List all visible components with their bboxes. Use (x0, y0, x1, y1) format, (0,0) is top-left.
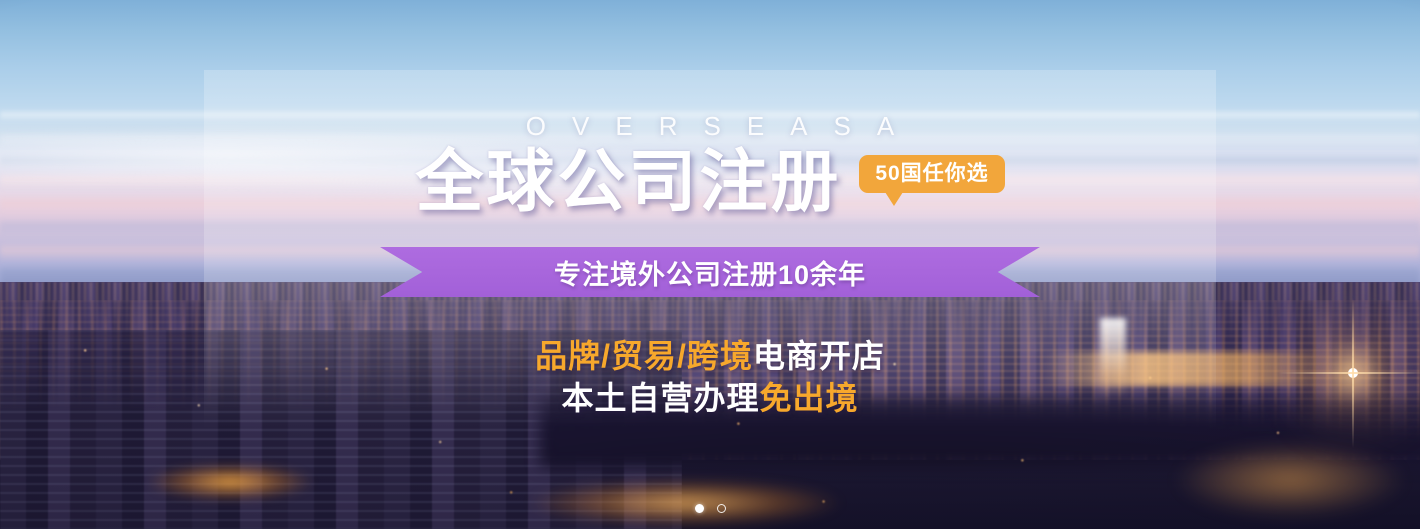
headline-row: 全球公司注册 50国任你选 (0, 148, 1420, 216)
country-count-badge[interactable]: 50国任你选 (859, 155, 1004, 193)
subheading-line-1: 品牌/贸易/跨境电商开店 (0, 336, 1420, 376)
carousel-dot-1[interactable] (695, 504, 704, 513)
ribbon-label: 专注境外公司注册10余年 (380, 247, 1040, 297)
carousel-dots[interactable] (0, 504, 1420, 513)
carousel-dot-2[interactable] (717, 504, 726, 513)
subheading-1-rest: 电商开店 (753, 338, 885, 374)
tagline-ribbon: 专注境外公司注册10余年 (380, 247, 1040, 297)
eyebrow-text: OVERSEASA (0, 113, 1420, 139)
subheading-line-2: 本土自营办理免出境 (0, 378, 1420, 418)
badge-pointer-icon (885, 192, 903, 206)
page-title: 全球公司注册 (415, 148, 841, 216)
subheading-1-highlight: 品牌/贸易/跨境 (535, 338, 753, 374)
hero-banner: OVERSEASA 全球公司注册 50国任你选 专注境外公司注册10余年 品牌/… (0, 0, 1420, 529)
badge-label: 50国任你选 (859, 155, 1004, 193)
subheading-2-highlight: 免出境 (760, 380, 859, 416)
banner-content: OVERSEASA 全球公司注册 50国任你选 专注境外公司注册10余年 品牌/… (0, 0, 1420, 529)
subheading-2-rest: 本土自营办理 (561, 380, 759, 416)
